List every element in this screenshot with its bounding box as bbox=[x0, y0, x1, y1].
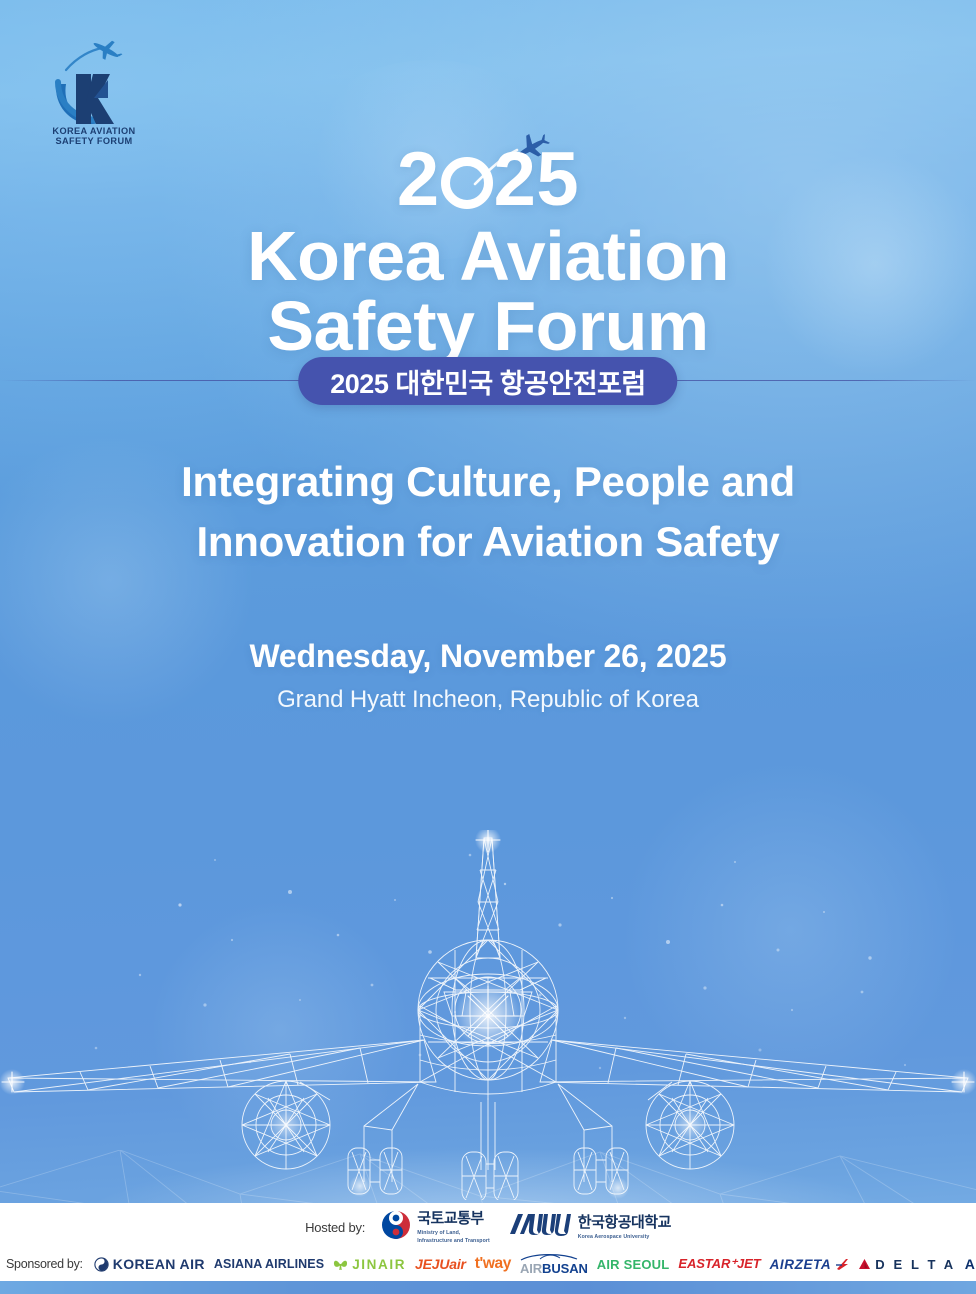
sponsor-label: EASTAR⁺JET bbox=[678, 1256, 760, 1272]
hosted-by-label: Hosted by: bbox=[305, 1220, 365, 1235]
sponsor-label-part2: BUSAN bbox=[542, 1261, 588, 1276]
host-name-en-line1: Ministry of Land, bbox=[417, 1230, 490, 1236]
kau-wordmark-icon bbox=[506, 1212, 572, 1243]
host-name-kr: 한국항공대학교 bbox=[578, 1214, 671, 1231]
sponsor-tway[interactable]: t'way bbox=[475, 1255, 511, 1273]
sponsor-jinair[interactable]: JINAIR bbox=[333, 1257, 406, 1272]
sponsor-delta[interactable]: D E L T A bbox=[858, 1257, 955, 1272]
badge-divider-wrap: 2025 대한민국 항공안전포럼 bbox=[0, 357, 976, 405]
host-name-en-line1: Korea Aerospace University bbox=[578, 1234, 671, 1240]
sponsor-label: KOREAN AIR bbox=[113, 1256, 205, 1272]
sponsor-air-seoul[interactable]: AIR SEOUL bbox=[597, 1257, 670, 1272]
korean-air-swirl-icon bbox=[94, 1257, 109, 1272]
event-date: Wednesday, November 26, 2025 bbox=[0, 638, 976, 675]
host-logo-kau[interactable]: 한국항공대학교 Korea Aerospace University bbox=[506, 1212, 671, 1243]
sponsor-label: D E L T A bbox=[875, 1257, 955, 1272]
wireframe-airplane-front-view-icon bbox=[0, 830, 976, 1200]
host-name-kr: 국토교통부 bbox=[417, 1210, 484, 1227]
sponsor-eastar-jet[interactable]: EASTAR⁺JET bbox=[678, 1256, 760, 1272]
jinair-butterfly-icon bbox=[333, 1258, 348, 1271]
footer-bottom-strip bbox=[0, 1281, 976, 1294]
event-venue: Grand Hyatt Incheon, Republic of Korea bbox=[0, 686, 976, 714]
hero-title-line2: Safety Forum bbox=[0, 294, 976, 358]
hero-title-line1: Korea Aviation bbox=[247, 217, 729, 295]
hero-year-text: 225 bbox=[397, 137, 579, 222]
sponsor-korean-air[interactable]: KOREAN AIR bbox=[94, 1256, 205, 1272]
sponsor-jeju-air[interactable]: JEJUair bbox=[415, 1256, 466, 1272]
forum-theme-line2: Innovation for Aviation Safety bbox=[0, 512, 976, 572]
hero-year: 225 bbox=[0, 142, 976, 218]
sponsor-label: AIRBUS bbox=[965, 1256, 976, 1272]
korean-title-badge: 2025 대한민국 항공안전포럼 bbox=[298, 357, 677, 405]
korean-title-badge-label: 2025 대한민국 항공안전포럼 bbox=[330, 362, 645, 401]
brand-logo: KOREA AVIATION SAFETY FORUM bbox=[36, 36, 152, 148]
airzeta-mark-icon bbox=[835, 1258, 849, 1271]
sponsor-label: JEJUair bbox=[415, 1256, 466, 1272]
hero-title: Korea Aviation Safety Forum bbox=[0, 224, 976, 358]
forum-theme-line1: Integrating Culture, People and bbox=[0, 452, 976, 512]
forum-theme: Integrating Culture, People and Innovati… bbox=[0, 452, 976, 572]
hero-title-block: 225 Korea Aviation Safety Forum bbox=[0, 142, 976, 358]
sponsor-label: AIRZETA bbox=[770, 1257, 832, 1272]
sponsor-air-busan[interactable]: AIRBUSAN bbox=[520, 1253, 588, 1276]
sponsor-airbus[interactable]: AIRBUS bbox=[965, 1256, 976, 1272]
sponsor-airzeta[interactable]: AIRZETA bbox=[770, 1257, 850, 1272]
host-name-en-line2: Infrastructure and Transport bbox=[417, 1238, 490, 1244]
sponsor-label: ASIANA AIRLINES bbox=[214, 1257, 324, 1271]
taegeuk-icon bbox=[381, 1210, 411, 1245]
host-name-kau: 한국항공대학교 Korea Aerospace University bbox=[578, 1214, 671, 1240]
sponsor-label: t'way bbox=[475, 1255, 511, 1273]
sponsored-by-label: Sponsored by: bbox=[6, 1257, 83, 1271]
sponsor-label-part1: AIR bbox=[520, 1261, 542, 1276]
host-name-molit: 국토교통부 Ministry of Land, Infrastructure a… bbox=[417, 1210, 490, 1245]
korea-aviation-safety-forum-logo-icon: KOREA AVIATION SAFETY FORUM bbox=[36, 36, 152, 148]
hosted-by-row: Hosted by: 국토교통부 Ministry of Land, Infra… bbox=[0, 1207, 976, 1247]
sponsor-asiana-airlines[interactable]: ASIANA AIRLINES bbox=[214, 1257, 324, 1271]
delta-triangle-icon bbox=[858, 1258, 871, 1270]
sponsors-row: Sponsored by: KOREAN AIR ASIANA AIRLINES… bbox=[0, 1247, 976, 1281]
sponsor-label: AIR SEOUL bbox=[597, 1257, 670, 1272]
brand-logo-line1: KOREA AVIATION bbox=[52, 126, 135, 136]
bokeh-blob bbox=[620, 760, 960, 1100]
bokeh-blob bbox=[150, 900, 410, 1160]
poster-canvas: KOREA AVIATION SAFETY FORUM 225 Korea Av… bbox=[0, 0, 976, 1294]
sponsor-label: JINAIR bbox=[352, 1257, 406, 1272]
host-logo-molit[interactable]: 국토교통부 Ministry of Land, Infrastructure a… bbox=[381, 1210, 490, 1245]
